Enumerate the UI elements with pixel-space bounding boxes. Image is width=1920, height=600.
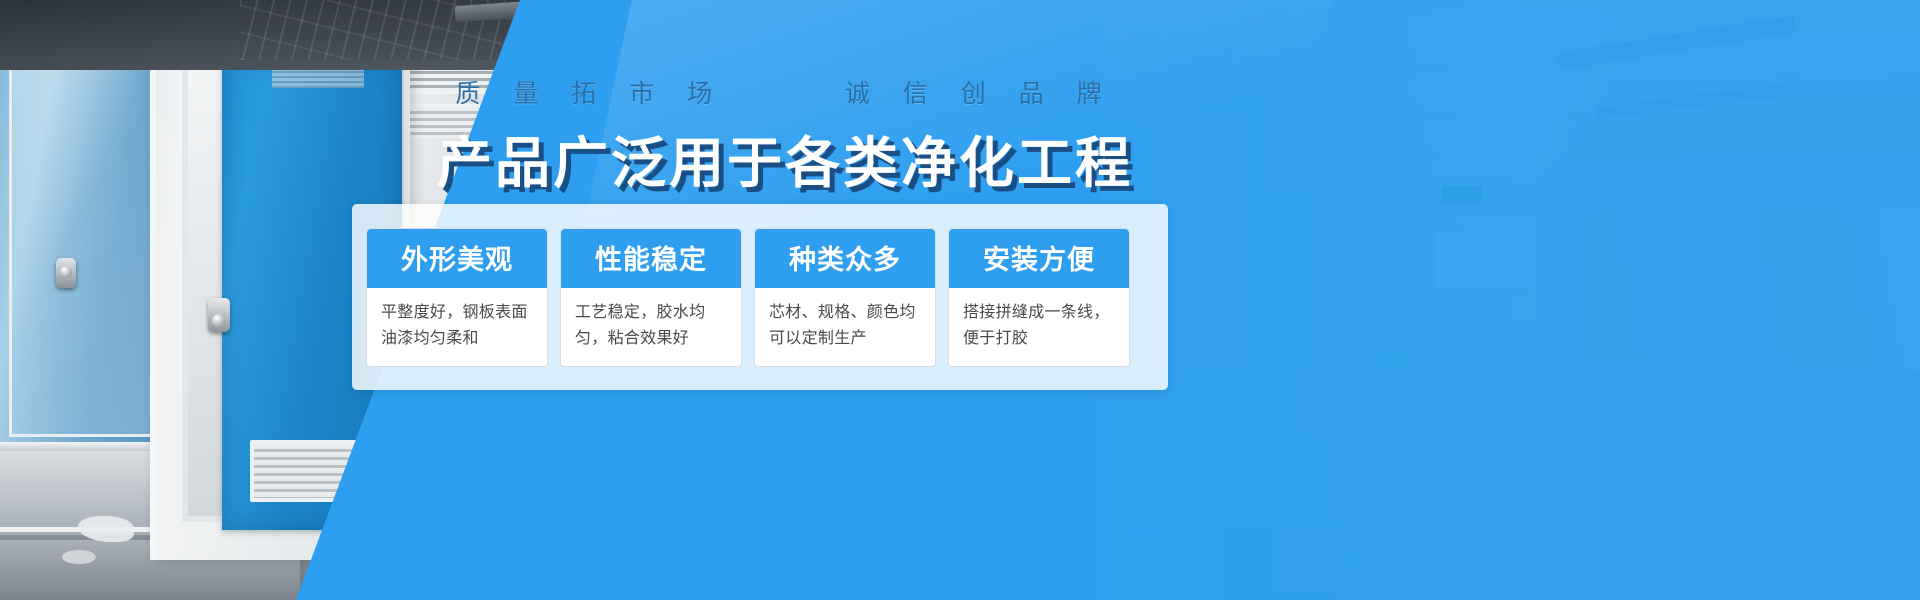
cabin-base (0, 451, 175, 527)
feature-card-body: 平整度好，钢板表面油漆均匀柔和 (367, 288, 547, 366)
tagline: 质 量 拓 市 场 诚 信 创 品 牌 (0, 74, 1570, 110)
door-lock-icon (212, 314, 225, 327)
feature-card[interactable]: 安装方便 搭接拼缝成一条线，便于打胶 (948, 228, 1130, 367)
feature-card-body: 芯材、规格、颜色均可以定制生产 (755, 288, 935, 366)
feature-card-title: 外形美观 (367, 229, 547, 288)
headline: 产品广泛用于各类净化工程 (0, 118, 1570, 198)
feature-card[interactable]: 外形美观 平整度好，钢板表面油漆均匀柔和 (366, 228, 548, 367)
floor-debris-small (62, 550, 96, 564)
feature-card-title: 安装方便 (949, 229, 1129, 288)
feature-card-title: 性能稳定 (561, 229, 741, 288)
feature-card-body: 搭接拼缝成一条线，便于打胶 (949, 288, 1129, 366)
feature-card[interactable]: 种类众多 芯材、规格、颜色均可以定制生产 (754, 228, 936, 367)
feature-card-title: 种类众多 (755, 229, 935, 288)
feature-card-group: 外形美观 平整度好，钢板表面油漆均匀柔和 性能稳定 工艺稳定，胶水均匀，粘合效果… (352, 204, 1168, 390)
feature-card[interactable]: 性能稳定 工艺稳定，胶水均匀，粘合效果好 (560, 228, 742, 367)
feature-card-body: 工艺稳定，胶水均匀，粘合效果好 (561, 288, 741, 366)
promo-banner: 质 量 拓 市 场 诚 信 创 品 牌 产品广泛用于各类净化工程 外形美观 平整… (0, 0, 1920, 600)
left-door-lock-icon (56, 258, 76, 288)
window-sill (0, 442, 175, 451)
